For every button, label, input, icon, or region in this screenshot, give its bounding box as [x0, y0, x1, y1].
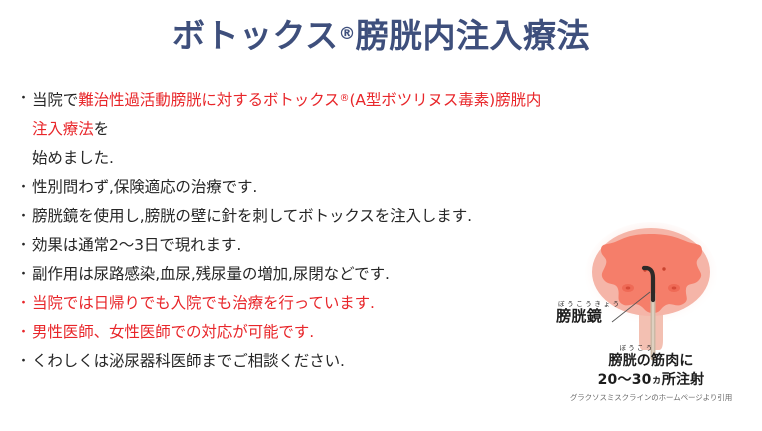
bullet-marker: ・ — [17, 173, 30, 202]
caption-line-2-counter: ヵ — [652, 375, 662, 386]
ureteral-orifice-left-opening — [626, 287, 631, 290]
text-segment-emphasis: 難治性過活動膀胱に対するボトックス — [78, 91, 339, 109]
caption-line-2-prefix: 20〜30 — [598, 372, 652, 388]
bullet-marker: ・ — [17, 318, 30, 347]
list-item: ・ 副作用は尿路感染,血尿,残尿量の増加,尿閉などです. — [14, 260, 554, 289]
bullet-list: ・ 当院で難治性過活動膀胱に対するボトックス®(A型ボツリヌス毒素)膀胱内注入療… — [14, 84, 554, 376]
bullet-marker: ・ — [17, 347, 30, 376]
registered-trademark-icon: ® — [340, 93, 350, 104]
ureteral-orifice-right-opening — [672, 287, 677, 290]
cystoscope-label-text: 膀胱鏡 — [556, 308, 648, 325]
bullet-marker: ・ — [17, 289, 30, 318]
list-item-text: 副作用は尿路感染,血尿,残尿量の増加,尿閉などです. — [32, 265, 390, 283]
bullet-marker: ・ — [17, 231, 30, 260]
list-item: ・ 当院で難治性過活動膀胱に対するボトックス®(A型ボツリヌス毒素)膀胱内注入療… — [14, 84, 554, 173]
injection-site-dot — [662, 267, 665, 270]
cystoscope-label: ぼうこうきょう 膀胱鏡 — [556, 300, 648, 325]
list-item-text: くわしくは泌尿器科医師までご相談ください. — [32, 352, 345, 370]
bullet-marker: ・ — [17, 202, 30, 231]
figure-caption: ぼうこう 膀胱の筋肉に 20〜30ヵ所注射 — [540, 344, 762, 390]
page-title-part-2: 膀胱内注入療法 — [356, 16, 591, 55]
text-segment-plain: 当院で — [32, 91, 78, 109]
list-item-text: 膀胱鏡を使用し,膀胱の壁に針を刺してボトックスを注入します. — [32, 207, 472, 225]
figure-source-attribution: グラクソスミスクラインのホームページより引用 — [540, 392, 762, 403]
list-item-text: 効果は通常2〜3日で現れます. — [32, 236, 241, 254]
list-item-continuation: 始めました. — [32, 144, 554, 173]
list-item: ・ 膀胱鏡を使用し,膀胱の壁に針を刺してボトックスを注入します. — [14, 202, 554, 231]
list-item-highlighted: ・ 当院では日帰りでも入院でも治療を行っています. — [14, 289, 554, 318]
list-item-text: 当院では日帰りでも入院でも治療を行っています. — [32, 294, 375, 312]
list-item-text: 当院で難治性過活動膀胱に対するボトックス®(A型ボツリヌス毒素)膀胱内注入療法を — [32, 91, 541, 138]
caption-line-2-suffix: 所注射 — [662, 372, 705, 388]
registered-trademark-icon: ® — [339, 24, 356, 44]
page-title-part-1: ボトックス — [172, 16, 339, 55]
list-item: ・ くわしくは泌尿器科医師までご相談ください. — [14, 347, 554, 376]
list-item-highlighted: ・ 男性医師、女性医師での対応が可能です. — [14, 318, 554, 347]
caption-line-2: 20〜30ヵ所注射 — [540, 371, 762, 390]
bullet-marker: ・ — [17, 84, 30, 113]
list-item-text: 性別問わず,保険適応の治療です. — [32, 178, 257, 196]
page-title: ボトックス®膀胱内注入療法 — [0, 12, 762, 58]
list-item-text: 男性医師、女性医師での対応が可能です. — [32, 323, 314, 341]
list-item: ・ 性別問わず,保険適応の治療です. — [14, 173, 554, 202]
caption-furigana: ぼうこう — [512, 344, 762, 352]
list-item: ・ 効果は通常2〜3日で現れます. — [14, 231, 554, 260]
caption-line-1: 膀胱の筋肉に — [540, 352, 762, 371]
text-segment-plain-2: を — [94, 120, 109, 138]
bullet-marker: ・ — [17, 260, 30, 289]
bladder-diagram: ぼうこうきょう 膀胱鏡 ぼうこう 膀胱の筋肉に 20〜30ヵ所注射 グラクソスミ… — [540, 222, 762, 427]
